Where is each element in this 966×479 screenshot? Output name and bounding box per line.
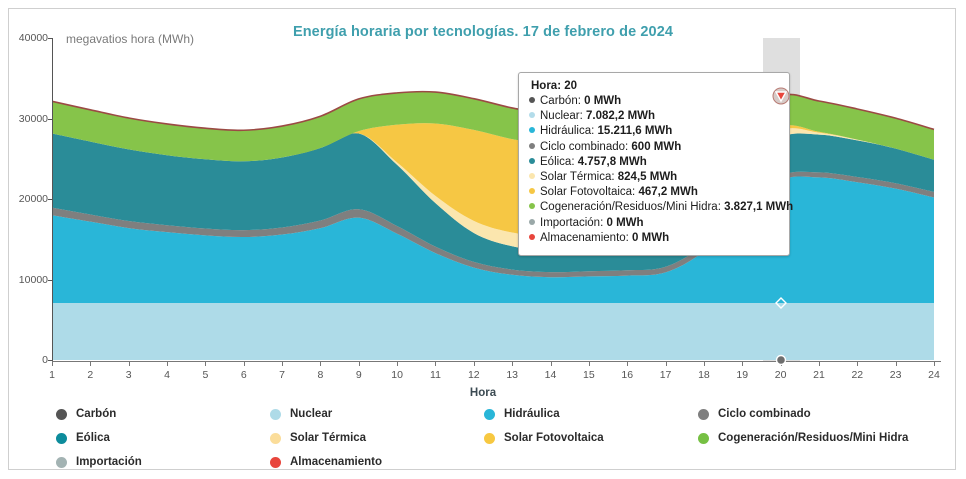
x-axis-tick-label: 7 xyxy=(279,369,285,381)
tooltip-series-label: Hidráulica: xyxy=(540,125,598,137)
hover-marker-square xyxy=(773,168,789,184)
x-axis-tick-label: 12 xyxy=(468,369,480,381)
x-axis-tick-label: 17 xyxy=(660,369,672,381)
legend-color-dot-icon xyxy=(484,409,495,420)
tooltip-row: Cogeneración/Residuos/Mini Hidra: 3.827,… xyxy=(529,200,779,215)
tooltip-row: Ciclo combinado: 600 MWh xyxy=(529,140,779,155)
tooltip-row: Hidráulica: 15.211,6 MWh xyxy=(529,124,779,139)
legend-item[interactable]: Almacenamiento xyxy=(270,450,484,474)
x-axis-tick-label: 22 xyxy=(851,369,863,381)
x-axis-tick-label: 11 xyxy=(430,369,441,381)
legend-item-label: Eólica xyxy=(76,432,110,444)
tooltip-series-dot-icon xyxy=(529,188,535,194)
x-axis-tick-mark xyxy=(512,361,513,366)
x-axis-tick-label: 2 xyxy=(87,369,93,381)
x-axis-tick-mark xyxy=(52,361,53,366)
x-axis-tick-label: 18 xyxy=(698,369,710,381)
x-axis-tick-label: 3 xyxy=(126,369,132,381)
legend-color-dot-icon xyxy=(484,433,495,444)
tooltip-series-label: Cogeneración/Residuos/Mini Hidra: xyxy=(540,201,724,213)
legend-item[interactable]: Solar Fotovoltaica xyxy=(484,426,698,450)
x-axis-tick-mark xyxy=(129,361,130,366)
legend-item-label: Importación xyxy=(76,456,142,468)
tooltip-series-dot-icon xyxy=(529,112,535,118)
x-axis-label: Hora xyxy=(0,387,966,399)
y-axis-tick-mark xyxy=(48,119,53,120)
y-axis: 010000200003000040000 xyxy=(0,38,48,360)
tooltip-series-label: Importación: xyxy=(540,217,606,229)
chart-screenshot: Energía horaria por tecnologías. 17 de f… xyxy=(0,0,966,479)
x-axis-tick-mark xyxy=(474,361,475,366)
tooltip-series-dot-icon xyxy=(529,158,535,164)
tooltip-series-dot-icon xyxy=(529,143,535,149)
legend-color-dot-icon xyxy=(270,433,281,444)
x-axis-tick-label: 24 xyxy=(928,369,940,381)
legend-item-label: Hidráulica xyxy=(504,408,560,420)
tooltip-series-label: Carbón: xyxy=(540,95,584,107)
y-axis-tick-mark xyxy=(48,280,53,281)
legend-item[interactable]: Cogeneración/Residuos/Mini Hidra xyxy=(698,426,948,450)
area-series xyxy=(52,303,934,360)
legend-color-dot-icon xyxy=(56,433,67,444)
x-axis-tick-mark xyxy=(90,361,91,366)
x-axis-tick-mark xyxy=(589,361,590,366)
legend-color-dot-icon xyxy=(270,409,281,420)
tooltip-series-value: 0 MWh xyxy=(632,232,669,244)
x-axis-tick-label: 1 xyxy=(49,369,55,381)
tooltip-series-label: Ciclo combinado: xyxy=(540,141,631,153)
y-axis-tick-label: 10000 xyxy=(2,274,48,286)
x-axis-tick-label: 14 xyxy=(545,369,557,381)
tooltip-series-dot-icon xyxy=(529,219,535,225)
hover-marker-diamond xyxy=(773,295,789,311)
legend-item-label: Almacenamiento xyxy=(290,456,382,468)
tooltip-series-label: Almacenamiento: xyxy=(540,232,632,244)
legend-color-dot-icon xyxy=(698,433,709,444)
hover-marker-circle xyxy=(773,352,789,368)
tooltip-series-value: 4.757,8 MWh xyxy=(578,156,647,168)
x-axis-line xyxy=(52,361,941,362)
legend-item[interactable]: Importación xyxy=(56,450,270,474)
legend-item-label: Nuclear xyxy=(290,408,332,420)
y-axis-tick-label: 20000 xyxy=(2,193,48,205)
x-axis-tick-label: 6 xyxy=(241,369,247,381)
tooltip-series-dot-icon xyxy=(529,97,535,103)
x-axis-tick-label: 15 xyxy=(583,369,595,381)
x-axis-tick-label: 10 xyxy=(391,369,403,381)
tooltip-hour: Hora: 20 xyxy=(531,80,779,92)
legend-color-dot-icon xyxy=(56,457,67,468)
tooltip-series-value: 0 MWh xyxy=(584,95,621,107)
x-axis-tick-label: 4 xyxy=(164,369,170,381)
x-axis-tick-label: 21 xyxy=(813,369,825,381)
x-axis-tick-mark xyxy=(896,361,897,366)
legend-item-label: Cogeneración/Residuos/Mini Hidra xyxy=(718,432,908,444)
tooltip-row: Solar Fotovoltaica: 467,2 MWh xyxy=(529,185,779,200)
tooltip-rows: Carbón: 0 MWhNuclear: 7.082,2 MWhHidrául… xyxy=(529,94,779,246)
x-axis-tick-mark xyxy=(627,361,628,366)
tooltip-series-value: 0 MWh xyxy=(606,217,643,229)
x-axis-tick-label: 16 xyxy=(621,369,633,381)
y-axis-tick-mark xyxy=(48,199,53,200)
hover-marker-diamond xyxy=(773,119,789,135)
tooltip-row: Solar Térmica: 824,5 MWh xyxy=(529,170,779,185)
x-axis-tick-mark xyxy=(167,361,168,366)
x-axis-tick-label: 23 xyxy=(890,369,902,381)
y-axis-tick-label: 40000 xyxy=(2,32,48,44)
tooltip-series-label: Eólica: xyxy=(540,156,578,168)
plot-svg xyxy=(52,38,940,360)
tooltip-series-value: 7.082,2 MWh xyxy=(586,110,655,122)
x-axis-tick-mark xyxy=(666,361,667,366)
legend-item-label: Solar Fotovoltaica xyxy=(504,432,604,444)
legend-color-dot-icon xyxy=(56,409,67,420)
x-axis-tick-mark xyxy=(320,361,321,366)
x-axis-tick-label: 20 xyxy=(775,369,787,381)
tooltip-series-dot-icon xyxy=(529,203,535,209)
tooltip-series-value: 824,5 MWh xyxy=(618,171,677,183)
x-axis-tick-mark xyxy=(282,361,283,366)
tooltip-row: Importación: 0 MWh xyxy=(529,216,779,231)
x-axis-tick-label: 8 xyxy=(318,369,324,381)
tooltip-series-label: Solar Térmica: xyxy=(540,171,618,183)
tooltip-series-label: Nuclear: xyxy=(540,110,586,122)
x-axis-tick-mark xyxy=(551,361,552,366)
x-axis-tick-mark xyxy=(244,361,245,366)
tooltip-series-value: 3.827,1 MWh xyxy=(724,201,793,213)
legend-item-label: Ciclo combinado xyxy=(718,408,811,420)
tooltip-row: Almacenamiento: 0 MWh xyxy=(529,231,779,246)
y-axis-tick-mark xyxy=(48,38,53,39)
legend-color-dot-icon xyxy=(270,457,281,468)
tooltip-series-dot-icon xyxy=(529,173,535,179)
y-axis-tick-label: 0 xyxy=(2,354,48,366)
legend-item[interactable]: Carbón xyxy=(56,402,270,426)
stacked-area-plot[interactable] xyxy=(52,38,940,360)
x-axis-tick-label: 13 xyxy=(506,369,518,381)
tooltip-row: Carbón: 0 MWh xyxy=(529,94,779,109)
x-axis-tick-mark xyxy=(819,361,820,366)
legend-color-dot-icon xyxy=(698,409,709,420)
tooltip-series-value: 600 MWh xyxy=(631,141,681,153)
legend-item[interactable]: Nuclear xyxy=(270,402,484,426)
x-axis-tick-mark xyxy=(934,361,935,366)
legend-item-label: Solar Térmica xyxy=(290,432,366,444)
tooltip-row: Nuclear: 7.082,2 MWh xyxy=(529,109,779,124)
tooltip-series-dot-icon xyxy=(529,234,535,240)
x-axis-tick-mark xyxy=(704,361,705,366)
x-axis-tick-label: 9 xyxy=(356,369,362,381)
x-axis-tick-mark xyxy=(742,361,743,366)
tooltip-series-value: 15.211,6 MWh xyxy=(598,125,673,137)
chart-legend: CarbónNuclearHidráulicaCiclo combinadoEó… xyxy=(56,402,956,474)
x-axis-tick-mark xyxy=(205,361,206,366)
legend-item-label: Carbón xyxy=(76,408,116,420)
legend-item[interactable]: Hidráulica xyxy=(484,402,698,426)
legend-item[interactable]: Ciclo combinado xyxy=(698,402,948,426)
hover-tooltip: Hora: 20 Carbón: 0 MWhNuclear: 7.082,2 M… xyxy=(518,72,790,256)
x-axis-tick-mark xyxy=(857,361,858,366)
tooltip-series-label: Solar Fotovoltaica: xyxy=(540,186,638,198)
x-axis-tick-label: 19 xyxy=(736,369,748,381)
tooltip-series-dot-icon xyxy=(529,127,535,133)
x-axis-tick-mark xyxy=(397,361,398,366)
y-axis-tick-label: 30000 xyxy=(2,113,48,125)
x-axis-tick-mark xyxy=(435,361,436,366)
tooltip-row: Eólica: 4.757,8 MWh xyxy=(529,155,779,170)
legend-item[interactable]: Eólica xyxy=(56,426,270,450)
hover-marker-almacenamiento xyxy=(771,86,791,106)
tooltip-series-value: 467,2 MWh xyxy=(638,186,697,198)
x-axis-tick-label: 5 xyxy=(202,369,208,381)
legend-item[interactable]: Solar Térmica xyxy=(270,426,484,450)
x-axis-tick-mark xyxy=(359,361,360,366)
